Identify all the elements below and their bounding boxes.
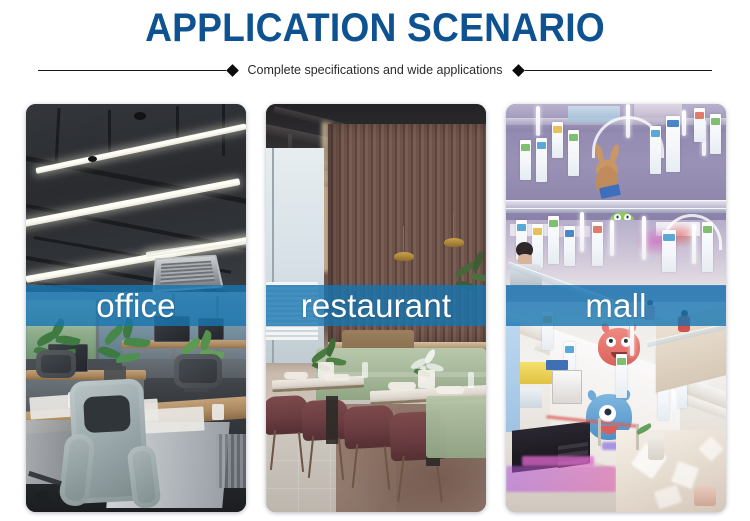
scenario-card-gallery: office [26, 104, 726, 512]
hanging-banner [666, 116, 680, 172]
card-label-band-restaurant: restaurant [266, 285, 486, 326]
hanging-banner [702, 222, 713, 272]
bunny-mascot-icon [590, 146, 624, 202]
page-title: APPLICATION SCENARIO [26, 7, 724, 49]
hanging-banner [520, 140, 531, 180]
barrier-post [598, 418, 601, 446]
hanging-banner [710, 114, 721, 154]
page-header: APPLICATION SCENARIO Complete specificat… [0, 0, 750, 78]
scenario-card-restaurant[interactable]: restaurant [266, 104, 486, 512]
card-label-office: office [96, 288, 175, 324]
dining-chair [343, 405, 395, 450]
divider-rule-right [525, 70, 713, 71]
subtitle-divider: Complete specifications and wide applica… [38, 62, 712, 78]
card-label-band-office: office [26, 285, 246, 326]
pendant-lamp-icon [394, 252, 414, 261]
hanging-banner [536, 138, 547, 182]
card-label-restaurant: restaurant [301, 288, 452, 324]
scenario-card-office[interactable]: office [26, 104, 246, 512]
dining-chair [301, 399, 349, 441]
hanging-banner [694, 108, 705, 142]
hanging-banner [592, 222, 603, 266]
hanging-banner [662, 230, 676, 272]
diamond-bullet-right-icon [512, 64, 525, 77]
floor-fixture [648, 434, 664, 460]
hanging-banner [616, 354, 627, 398]
scenario-card-mall[interactable]: mall [506, 104, 726, 512]
vertical-banner [506, 322, 520, 432]
hanging-banner [564, 226, 575, 266]
card-label-mall: mall [585, 288, 646, 324]
hanging-banner [552, 122, 563, 158]
card-label-band-mall: mall [506, 285, 726, 326]
pendant-lamp-icon [444, 238, 464, 247]
hanging-banner [568, 130, 579, 176]
hanging-banner [548, 216, 559, 264]
page-subtitle: Complete specifications and wide applica… [239, 63, 512, 77]
diamond-bullet-left-icon [226, 64, 239, 77]
divider-rule-left [38, 70, 226, 71]
hanging-banner [650, 126, 661, 174]
